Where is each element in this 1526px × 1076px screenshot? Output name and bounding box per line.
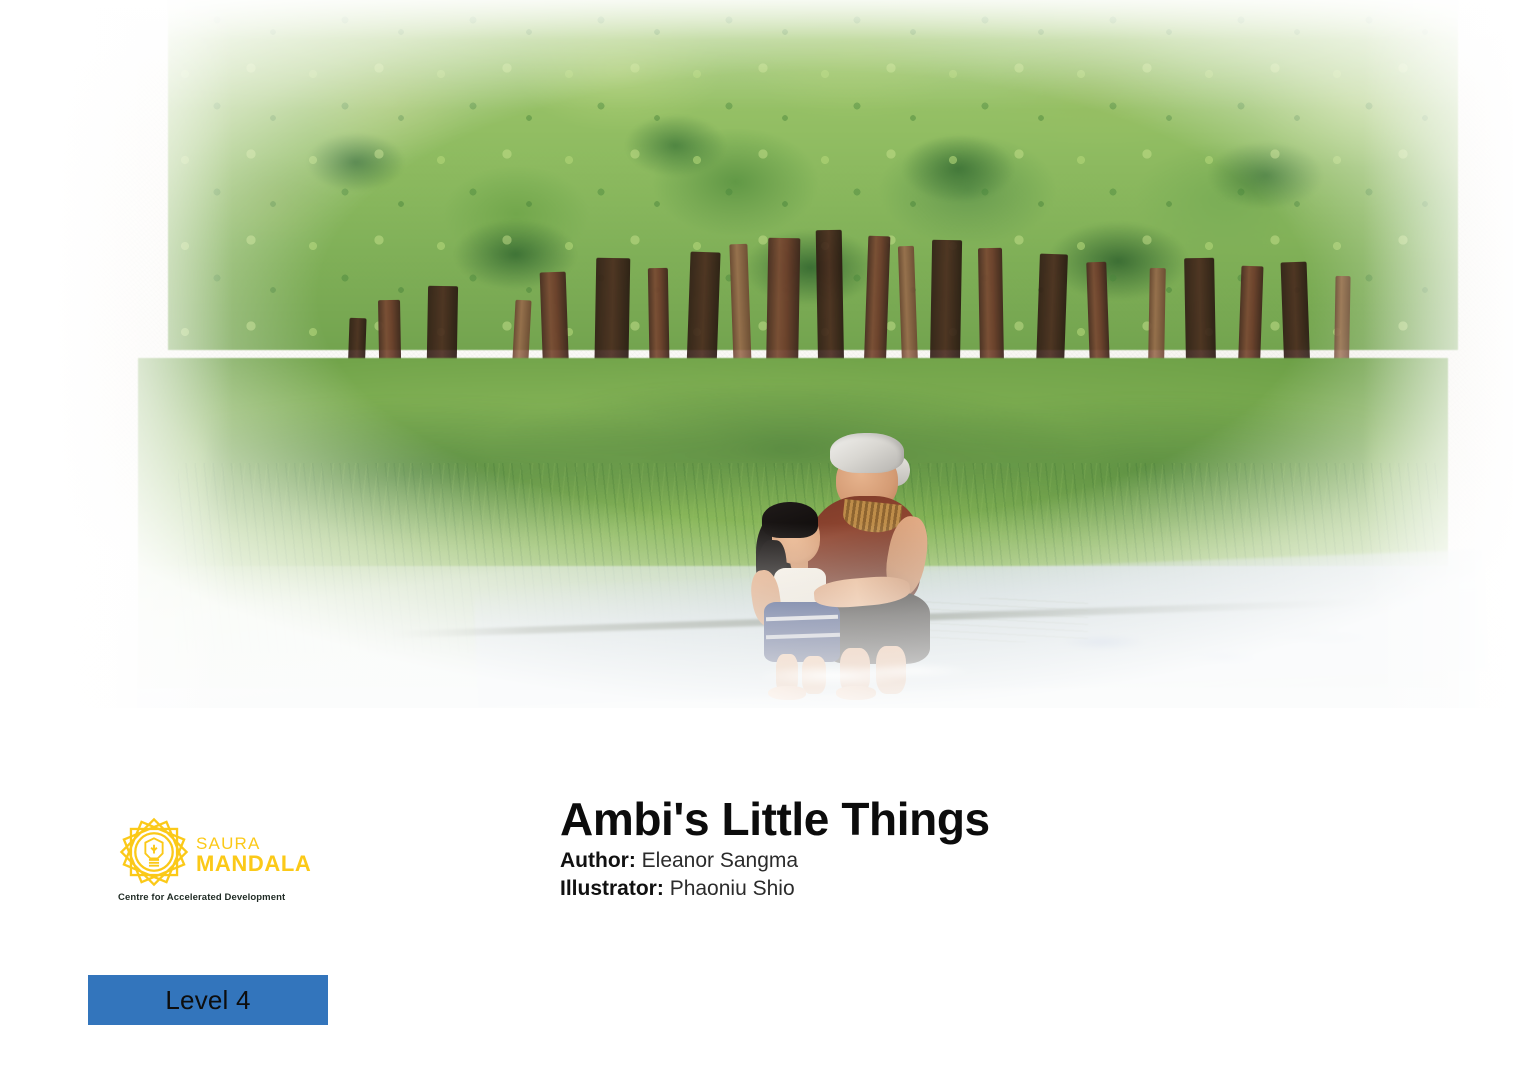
cover-illustration <box>58 0 1513 708</box>
saura-mandala-sunburst-lightbulb-icon <box>118 816 190 888</box>
logo-row: SAURA MANDALA <box>118 816 298 888</box>
water-splash <box>734 648 984 694</box>
logo-tagline: Centre for Accelerated Development <box>118 892 298 903</box>
logo-line-mandala: MANDALA <box>196 853 311 875</box>
child-hair-front <box>762 502 818 538</box>
level-badge-label: Level 4 <box>165 985 250 1016</box>
author-name: Eleanor Sangma <box>642 849 798 872</box>
author-label: Author: <box>560 849 636 872</box>
logo-wordmark: SAURA MANDALA <box>196 829 311 875</box>
page-title: Ambi's Little Things <box>560 795 990 845</box>
watercolor-scene <box>58 0 1513 708</box>
publisher-logo: SAURA MANDALA Centre for Accelerated Dev… <box>118 816 298 903</box>
title-block: Ambi's Little Things Author: Eleanor San… <box>560 795 990 902</box>
grandmother-headscarf <box>830 433 904 473</box>
level-badge: Level 4 <box>88 975 328 1025</box>
illustrator-label: Illustrator: <box>560 877 664 900</box>
illustrator-name: Phaoniu Shio <box>670 877 795 900</box>
author-line: Author: Eleanor Sangma <box>560 848 990 874</box>
illustrator-line: Illustrator: Phaoniu Shio <box>560 876 990 902</box>
logo-line-saura: SAURA <box>196 835 311 852</box>
